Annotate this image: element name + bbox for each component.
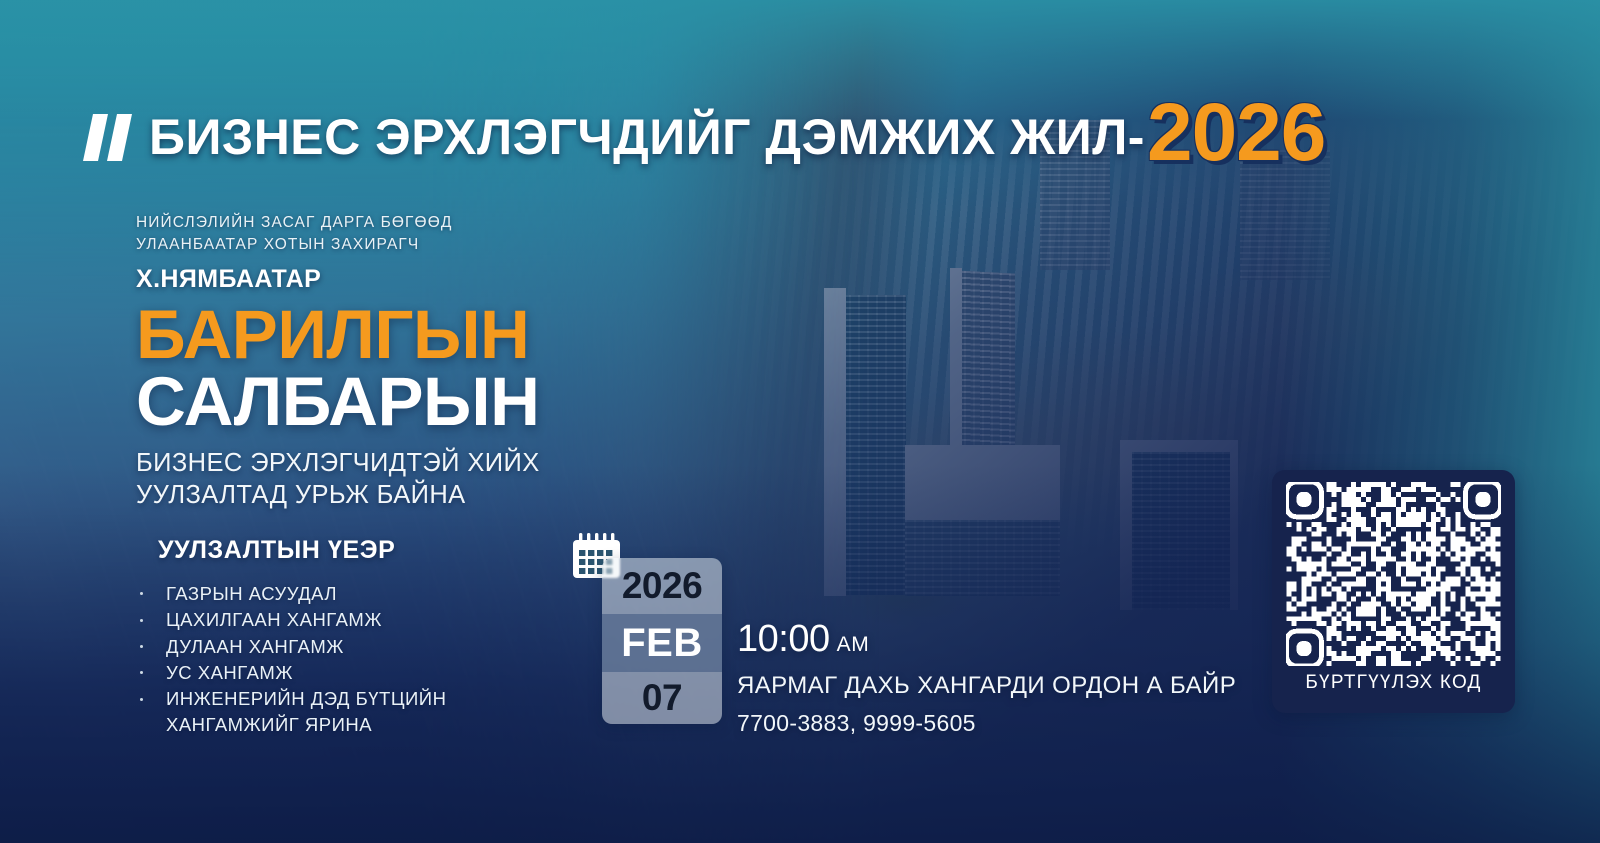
agenda-item: УС ХАНГАМЖ	[136, 660, 576, 686]
agenda-item-label: УС ХАНГАМЖ	[166, 662, 293, 683]
agenda-list: ГАЗРЫН АСУУДАЛ ЦАХИЛГААН ХАНГАМЖ ДУЛААН …	[136, 581, 576, 739]
event-time-row: 10:00 AM	[737, 618, 1236, 661]
date-card: 2026 FEB 07	[602, 558, 722, 724]
event-time: 10:00	[737, 618, 830, 661]
qr-label: БҮРТГҮҮЛЭХ КОД	[1305, 672, 1481, 694]
date-year: 2026	[602, 558, 722, 614]
headline-text: БИЗНЕС ЭРХЛЭГЧДИЙГ ДЭМЖИХ ЖИЛ-	[149, 112, 1145, 162]
qr-registration-panel[interactable]: БҮРТГҮҮЛЭХ КОД	[1272, 470, 1515, 713]
agenda-item: ГАЗРЫН АСУУДАЛ	[136, 581, 576, 607]
date-month: FEB	[602, 614, 722, 672]
event-time-ampm: AM	[837, 633, 870, 657]
bullet-icon	[140, 645, 143, 648]
agenda-item: ЦАХИЛГААН ХАНГАМЖ	[136, 607, 576, 633]
event-venue: ЯАРМАГ ДАХЬ ХАНГАРДИ ОРДОН А БАЙР	[737, 672, 1236, 700]
invitation-line-2: УУЛЗАЛТАД УРЬЖ БАЙНА	[136, 479, 696, 512]
agenda-item-label: ЦАХИЛГААН ХАНГАМЖ	[166, 609, 382, 630]
agenda-item: ДУЛААН ХАНГАМЖ	[136, 634, 576, 660]
qr-code-icon[interactable]	[1286, 482, 1501, 666]
title-line-1: БАРИЛГЫН	[136, 302, 696, 369]
speaker-name: Х.НЯМБААТАР	[136, 265, 696, 294]
bullet-icon	[140, 619, 143, 622]
title-line-2: САЛБАРЫН	[136, 369, 696, 436]
agenda-item-label: ГАЗРЫН АСУУДАЛ	[166, 583, 337, 604]
agenda-title: УУЛЗАЛТЫН ҮЕЭР	[158, 536, 576, 565]
event-poster: БИЗНЕС ЭРХЛЭГЧДИЙГ ДЭМЖИХ ЖИЛ- 2026 НИЙС…	[0, 0, 1600, 843]
bullet-icon	[140, 698, 143, 701]
event-phones: 7700-3883, 9999-5605	[737, 710, 1236, 737]
agenda-item-label: ДУЛААН ХАНГАМЖ	[166, 636, 344, 657]
speaker-role-line2: УЛААНБААТАР ХОТЫН ЗАХИРАГЧ	[136, 234, 696, 256]
invitation-line-1: БИЗНЕС ЭРХЛЭГЧИДТЭЙ ХИЙХ	[136, 447, 696, 480]
speaker-role-line1: НИЙСЛЭЛИЙН ЗАСАГ ДАРГА БӨГӨӨД	[136, 212, 696, 234]
bullet-icon	[140, 592, 143, 595]
agenda-section: УУЛЗАЛТЫН ҮЕЭР ГАЗРЫН АСУУДАЛ ЦАХИЛГААН …	[136, 536, 576, 739]
bullet-icon	[140, 671, 143, 674]
invitation-block: БИЗНЕС ЭРХЛЭГЧИДТЭЙ ХИЙХ УУЛЗАЛТАД УРЬЖ …	[136, 447, 696, 512]
date-day: 07	[602, 672, 722, 724]
double-slash-mark-icon	[88, 114, 127, 161]
speaker-and-title-block: НИЙСЛЭЛИЙН ЗАСАГ ДАРГА БӨГӨӨД УЛААНБААТА…	[136, 212, 696, 512]
agenda-item: ИНЖЕНЕРИЙН ДЭД БҮТЦИЙН ХАНГАМЖИЙГ ЯРИНА	[136, 686, 576, 739]
agenda-item-label: ИНЖЕНЕРИЙН ДЭД БҮТЦИЙН ХАНГАМЖИЙГ ЯРИНА	[166, 688, 446, 735]
headline-year: 2026	[1147, 94, 1325, 173]
event-details: 10:00 AM ЯАРМАГ ДАХЬ ХАНГАРДИ ОРДОН А БА…	[737, 618, 1236, 737]
poster-headline: БИЗНЕС ЭРХЛЭГЧДИЙГ ДЭМЖИХ ЖИЛ- 2026	[88, 98, 1325, 177]
